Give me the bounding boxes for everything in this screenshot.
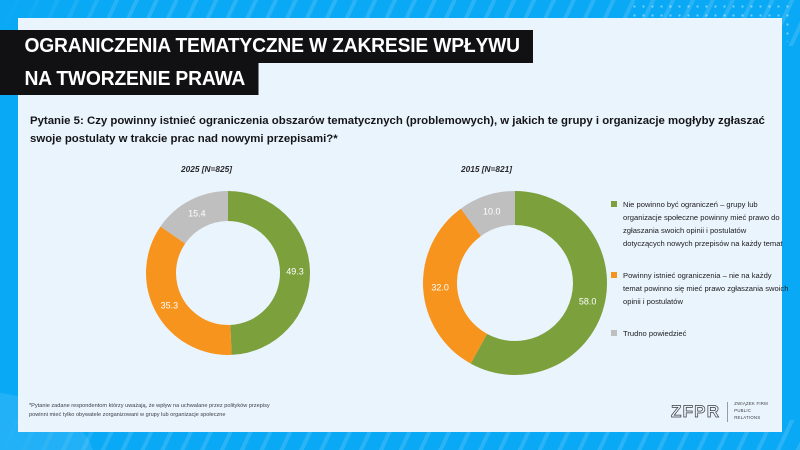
question-text: Pytanie 5: Czy powinny istnieć ogranicze… (30, 113, 785, 148)
donut-slice-label: 58.0 (579, 297, 597, 307)
slide-title-line-1: OGRANICZENIA TEMATYCZNE W ZAKRESIE WPŁYW… (0, 30, 533, 63)
chart-title-2025: 2025 [N=825] (181, 164, 232, 174)
legend-item: Powinny istnieć ograniczenia – nie na ka… (611, 269, 789, 308)
legend-item: Nie powinno być ograniczeń – grupy lub o… (611, 198, 789, 250)
zfpr-logo: ZFPR ZWIĄZEK FIRM PUBLIC RELATIONS (671, 401, 768, 422)
slide-title-line-2: NA TWORZENIE PRAWA (0, 63, 258, 96)
donut-slice-label: 32.0 (431, 283, 449, 293)
chart-legend: Nie powinno być ograniczeń – grupy lub o… (611, 198, 789, 359)
donut-slice-label: 10.0 (483, 207, 501, 217)
donut-slice-label: 49.3 (286, 267, 304, 277)
legend-swatch-icon (611, 201, 617, 207)
logo-divider (727, 402, 728, 422)
logo-subtitle-line-2: PUBLIC (734, 408, 768, 415)
donut-slice-label: 35.3 (161, 300, 179, 310)
legend-item-label: Powinny istnieć ograniczenia – nie na ka… (623, 269, 789, 308)
slide-content-card: OGRANICZENIA TEMATYCZNE W ZAKRESIE WPŁYW… (18, 18, 782, 432)
donut-slice (146, 226, 232, 355)
legend-swatch-icon (611, 330, 617, 336)
donut-chart-2025: 49.335.315.4 (143, 188, 313, 363)
logo-subtitle-line-1: ZWIĄZEK FIRM (734, 401, 768, 408)
slide-background: OGRANICZENIA TEMATYCZNE W ZAKRESIE WPŁYW… (0, 0, 800, 450)
legend-item-label: Nie powinno być ograniczeń – grupy lub o… (623, 198, 789, 250)
legend-item: Trudno powiedzieć (611, 327, 789, 340)
donut-chart-2015: 58.032.010.0 (420, 188, 610, 383)
donut-svg: 58.032.010.0 (420, 188, 610, 378)
donut-svg: 49.335.315.4 (143, 188, 313, 358)
footnote-text: *Pytanie zadane respondentom którzy uważ… (29, 402, 289, 420)
logo-subtitle-line-3: RELATIONS (734, 415, 768, 422)
logo-subtitle: ZWIĄZEK FIRM PUBLIC RELATIONS (734, 401, 768, 422)
logo-wordmark: ZFPR (671, 402, 720, 422)
legend-item-label: Trudno powiedzieć (623, 327, 686, 340)
donut-slice-label: 15.4 (188, 209, 206, 219)
chart-title-2015: 2015 [N=821] (461, 164, 512, 174)
legend-swatch-icon (611, 272, 617, 278)
slide-title: OGRANICZENIA TEMATYCZNE W ZAKRESIE WPŁYW… (0, 30, 567, 95)
